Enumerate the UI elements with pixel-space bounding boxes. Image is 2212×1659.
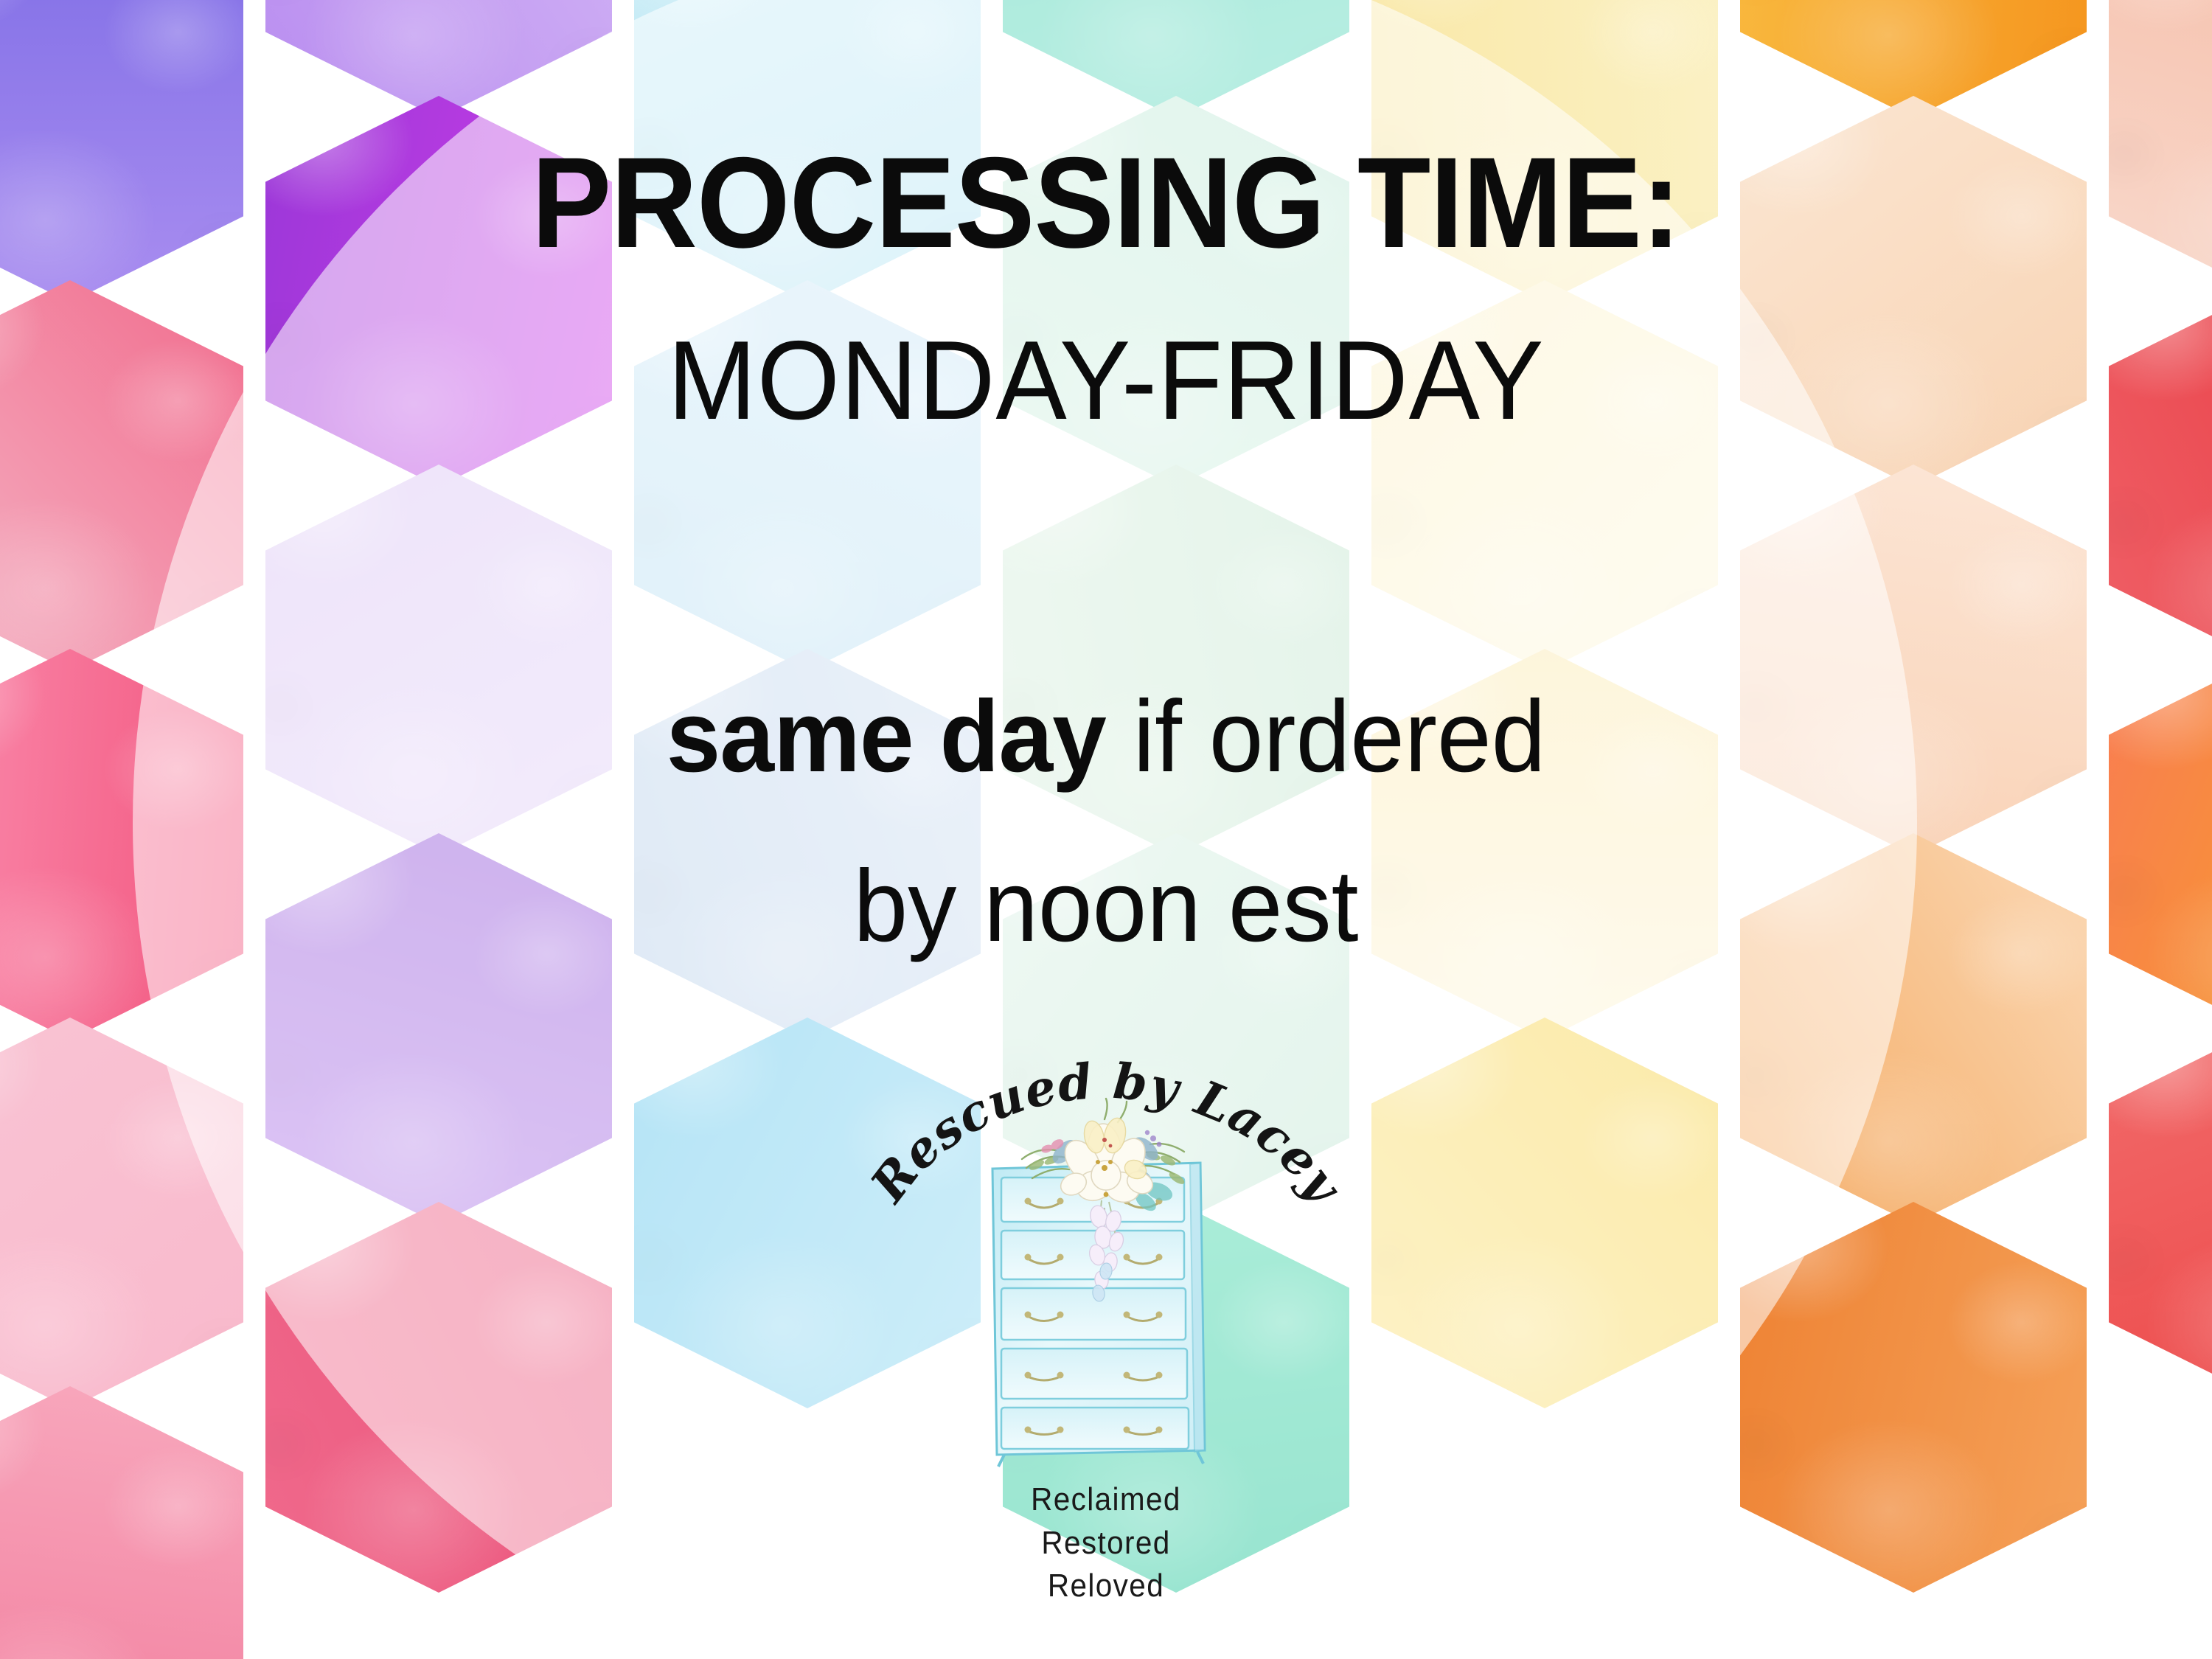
brand-tagline-line: Reclaimed	[889, 1478, 1324, 1522]
brand-tagline-line: Reloved	[889, 1565, 1324, 1608]
body-line-1-rest: if ordered	[1106, 680, 1545, 793]
poster-canvas: PROCESSING TIME: MONDAY-FRIDAY same day …	[0, 0, 2212, 1659]
brand-tagline-line: Restored	[889, 1522, 1324, 1565]
page-title: PROCESSING TIME:	[77, 139, 2135, 268]
body-line-2: by noon est	[44, 855, 2168, 957]
brand-tagline: ReclaimedRestoredReloved	[889, 1478, 1324, 1608]
body-line-1: same day if ordered	[44, 686, 2168, 787]
body-line-1-bold: same day	[667, 680, 1106, 793]
text-layer: PROCESSING TIME: MONDAY-FRIDAY same day …	[0, 0, 2212, 1659]
subtitle: MONDAY-FRIDAY	[55, 324, 2157, 437]
brand-logo: Rescued by Lacey	[870, 1010, 1342, 1593]
flower-bouquet-icon	[994, 1097, 1215, 1318]
